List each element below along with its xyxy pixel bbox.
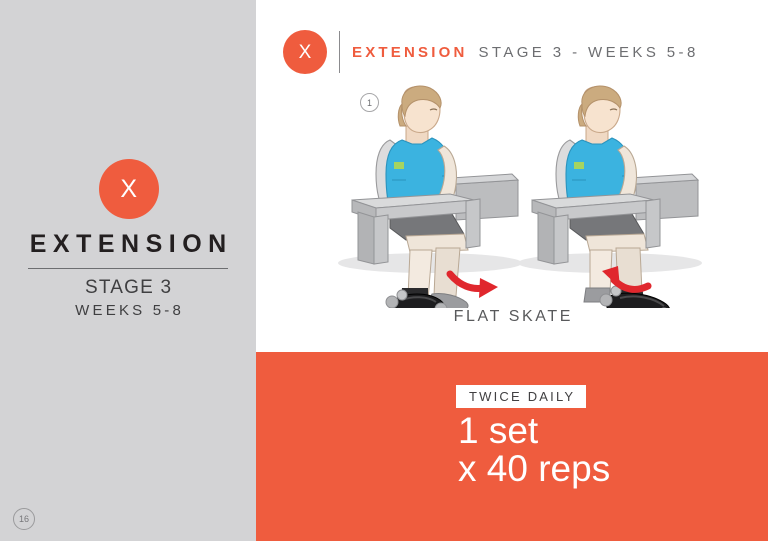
dosage-panel: TWICE DAILY 1 set x 40 reps: [256, 352, 768, 541]
sidebar-exercise-title: EXTENSION: [0, 230, 256, 259]
sidebar-exercise-badge: X: [99, 159, 159, 219]
frequency-label: TWICE DAILY: [469, 390, 575, 403]
flat-skate-figures-svg: [256, 78, 768, 308]
figure-left-start-position: [338, 86, 522, 308]
sidebar-stage-label: STAGE 3: [0, 277, 256, 299]
sidebar-badge-letter: X: [120, 177, 137, 202]
exercise-caption: FLAT SKATE: [256, 308, 768, 326]
sidebar-divider: [28, 268, 228, 269]
sidebar-weeks-label: WEEKS 5-8: [0, 302, 256, 319]
header-badge-letter: X: [299, 43, 312, 62]
page-number: 16: [13, 508, 35, 530]
sidebar: X EXTENSION STAGE 3 WEEKS 5-8 16: [0, 0, 256, 541]
exercise-illustration: 1: [256, 78, 768, 308]
sets-value: 1 set: [458, 412, 538, 451]
reps-value: x 40 reps: [458, 450, 610, 489]
exercise-page: X EXTENSION STAGE 3 WEEKS 5-8 16 X EXTEN…: [0, 0, 768, 541]
header-exercise-badge: X: [283, 30, 327, 74]
step-number-badge: 1: [360, 93, 379, 112]
header-stage-weeks: STAGE 3 - WEEKS 5-8: [478, 44, 698, 61]
header-exercise-title: EXTENSION: [352, 44, 467, 61]
frequency-badge: TWICE DAILY: [456, 385, 586, 408]
